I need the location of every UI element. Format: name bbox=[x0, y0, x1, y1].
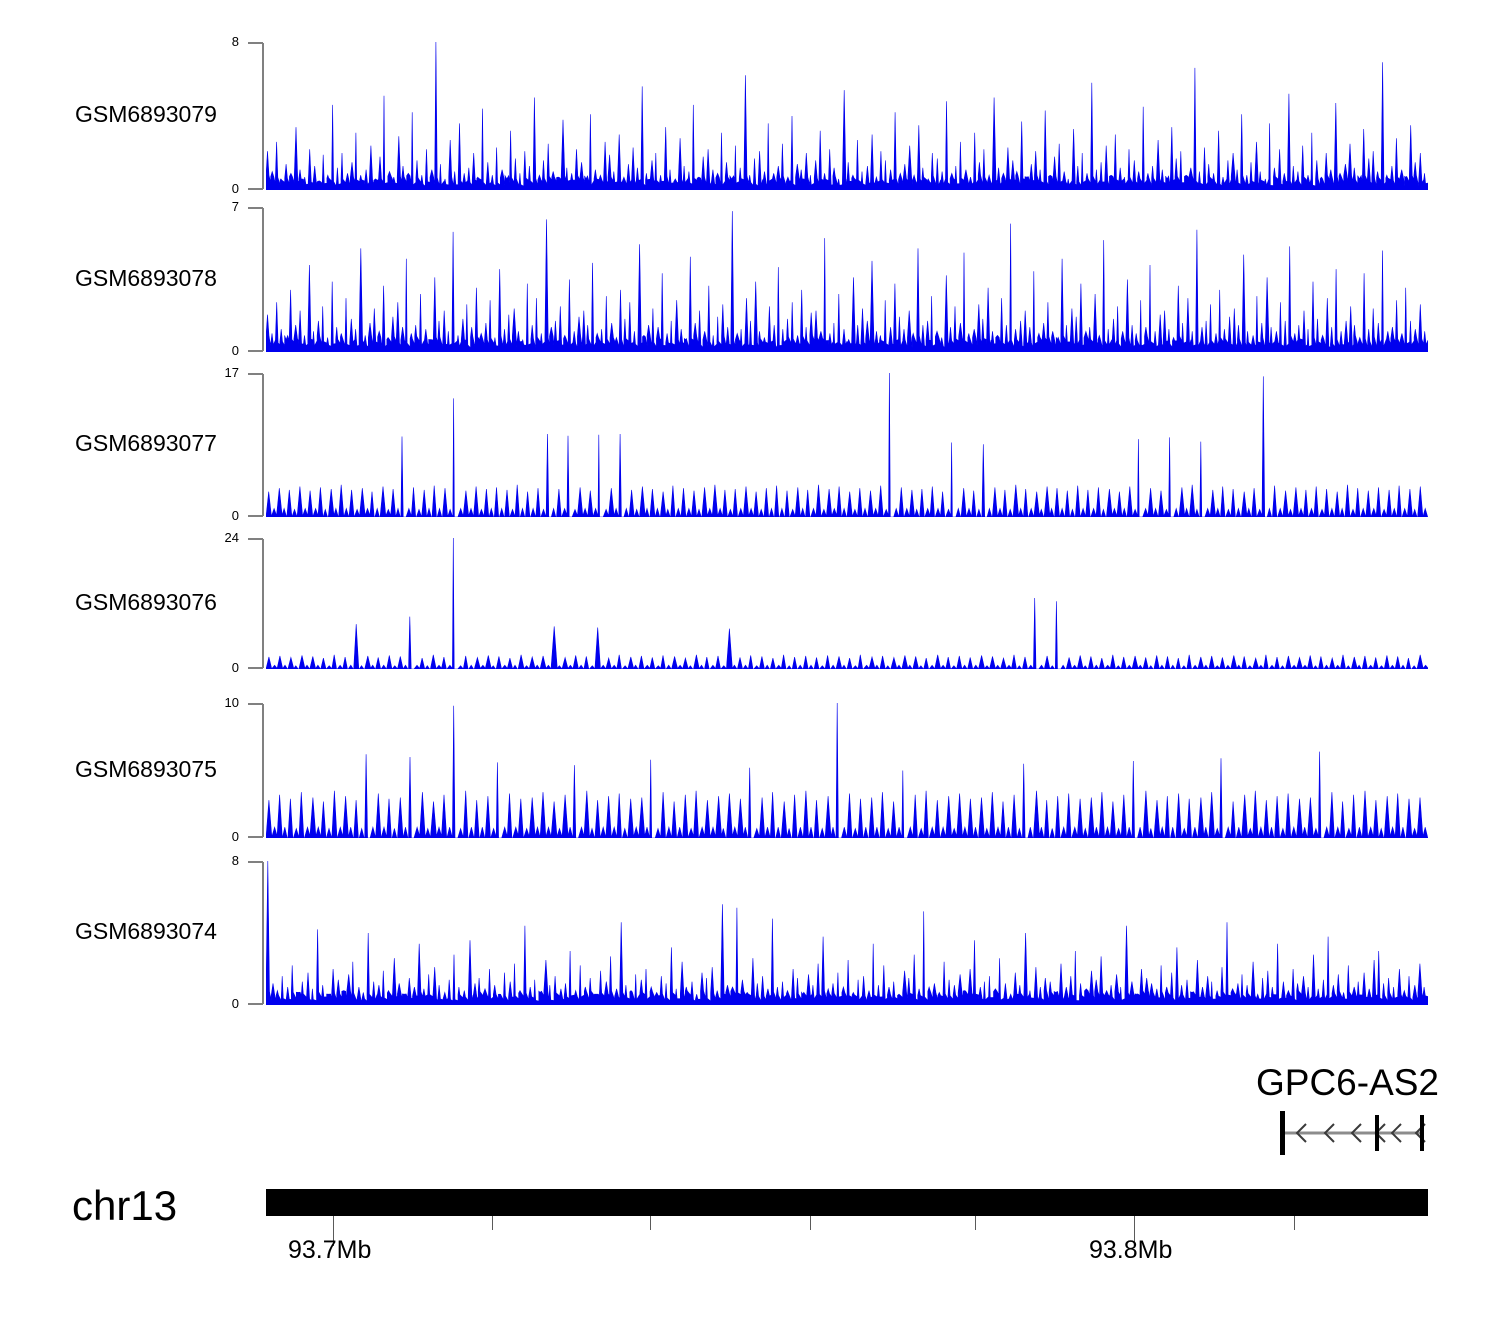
coverage-area bbox=[266, 703, 1428, 838]
axis-min-label: 0 bbox=[205, 344, 239, 357]
track-sample-label: GSM6893079 bbox=[75, 101, 235, 128]
coverage-track[interactable]: GSM6893077170 bbox=[0, 373, 1500, 517]
ruler-minor-tick bbox=[1294, 1216, 1295, 1230]
axis-min-label: 0 bbox=[205, 182, 239, 195]
ruler-minor-tick bbox=[975, 1216, 976, 1230]
coverage-plot[interactable] bbox=[266, 538, 1428, 669]
coverage-area bbox=[266, 538, 1428, 669]
axis-min-label: 0 bbox=[205, 830, 239, 843]
axis-min-label: 0 bbox=[205, 997, 239, 1010]
axis-max-label: 7 bbox=[205, 200, 239, 213]
ruler-tick-label: 93.8Mb bbox=[1089, 1236, 1172, 1265]
coverage-track[interactable]: GSM689307980 bbox=[0, 42, 1500, 190]
coverage-area bbox=[266, 211, 1428, 352]
axis-max-label: 8 bbox=[205, 854, 239, 867]
gene-label: GPC6-AS2 bbox=[1256, 1062, 1440, 1104]
chromosome-label: chr13 bbox=[72, 1182, 177, 1230]
coverage-area bbox=[266, 373, 1428, 517]
ideogram-bar[interactable] bbox=[266, 1189, 1428, 1216]
genome-browser: GSM689307980GSM689307870GSM6893077170GSM… bbox=[0, 0, 1500, 1320]
axis-max-label: 8 bbox=[205, 35, 239, 48]
ruler-minor-tick bbox=[810, 1216, 811, 1230]
ruler-minor-tick bbox=[492, 1216, 493, 1230]
coverage-track[interactable]: GSM6893076240 bbox=[0, 538, 1500, 669]
axis-max-label: 10 bbox=[205, 696, 239, 709]
ruler-tick-label: 93.7Mb bbox=[288, 1236, 371, 1265]
track-sample-label: GSM6893074 bbox=[75, 918, 235, 945]
coverage-track[interactable]: GSM689307480 bbox=[0, 861, 1500, 1005]
coverage-plot[interactable] bbox=[266, 42, 1428, 190]
track-sample-label: GSM6893078 bbox=[75, 265, 235, 292]
axis-max-label: 17 bbox=[205, 366, 239, 379]
coverage-plot[interactable] bbox=[266, 703, 1428, 838]
coverage-area bbox=[266, 42, 1428, 190]
track-sample-label: GSM6893075 bbox=[75, 756, 235, 783]
coverage-track[interactable]: GSM6893075100 bbox=[0, 703, 1500, 838]
ruler-minor-tick bbox=[650, 1216, 651, 1230]
coverage-plot[interactable] bbox=[266, 373, 1428, 517]
axis-max-label: 24 bbox=[205, 531, 239, 544]
coverage-plot[interactable] bbox=[266, 861, 1428, 1005]
coverage-track[interactable]: GSM689307870 bbox=[0, 207, 1500, 352]
coverage-area bbox=[266, 861, 1428, 1005]
coverage-plot[interactable] bbox=[266, 207, 1428, 352]
track-sample-label: GSM6893077 bbox=[75, 430, 235, 457]
axis-min-label: 0 bbox=[205, 509, 239, 522]
track-sample-label: GSM6893076 bbox=[75, 589, 235, 616]
axis-min-label: 0 bbox=[205, 661, 239, 674]
